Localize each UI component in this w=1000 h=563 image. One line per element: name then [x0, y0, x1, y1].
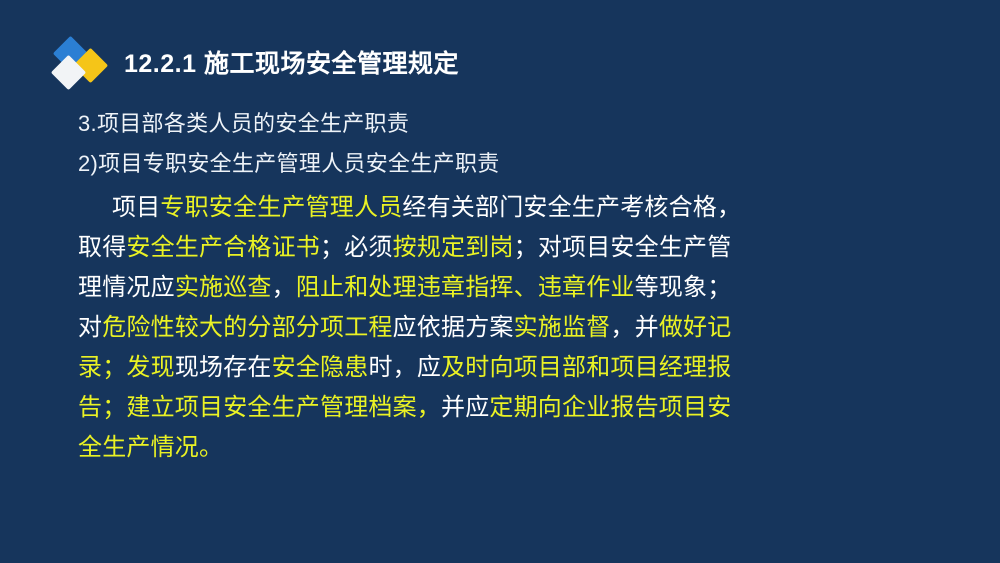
highlighted-text-run: 阻止和处理违章指挥、违章作业: [296, 274, 635, 301]
paragraph-line: 项目专职安全生产管理人员经有关部门安全生产考核合格，: [78, 188, 938, 228]
plain-text-run: 并应: [441, 394, 489, 421]
plain-text-run: ；对项目安全生产管: [514, 234, 732, 261]
highlighted-text-run: 实施巡查: [175, 274, 272, 301]
lead-line-1: 3.项目部各类人员的安全生产职责: [78, 104, 938, 144]
highlighted-text-run: 安全生产合格证书: [126, 234, 320, 261]
slide-canvas: 12.2.1 施工现场安全管理规定 3.项目部各类人员的安全生产职责 2)项目专…: [0, 0, 1000, 563]
plain-text-run: ；必须: [320, 234, 393, 261]
highlighted-text-run: 及时向项目部和项目经理报: [441, 354, 731, 381]
highlighted-text-run: 录；发现: [78, 354, 175, 381]
page-title: 12.2.1 施工现场安全管理规定: [124, 52, 459, 77]
plain-text-run: 取得: [78, 234, 126, 261]
paragraph-line: 全生产情况。: [78, 428, 938, 468]
three-diamond-logo-icon: [52, 38, 110, 90]
plain-text-run: 等现象；: [635, 274, 732, 301]
paragraph-line: 对危险性较大的分部分项工程应依据方案实施监督，并做好记: [78, 308, 938, 348]
highlighted-text-run: 告；建立项目安全生产管理档案，: [78, 394, 441, 421]
slide-body: 3.项目部各类人员的安全生产职责 2)项目专职安全生产管理人员安全生产职责 项目…: [78, 104, 938, 468]
highlighted-text-run: 定期向企业报告项目安: [489, 394, 731, 421]
plain-text-run: 理情况应: [78, 274, 175, 301]
highlighted-text-run: 按规定到岗: [393, 234, 514, 261]
highlighted-text-run: 做好记: [659, 314, 732, 341]
highlighted-text-run: 实施监督: [514, 314, 611, 341]
highlighted-text-run: 全生产情况。: [78, 434, 223, 461]
slide-header: 12.2.1 施工现场安全管理规定: [52, 36, 459, 92]
plain-text-run: 对: [78, 314, 102, 341]
paragraph-line: 理情况应实施巡查，阻止和处理违章指挥、违章作业等现象；: [78, 268, 938, 308]
plain-text-run: 现场存在: [175, 354, 272, 381]
plain-text-run: ，并: [610, 314, 658, 341]
highlighted-text-run: 安全隐患: [272, 354, 369, 381]
paragraph-line: 取得安全生产合格证书；必须按规定到岗；对项目安全生产管: [78, 228, 938, 268]
lead-line-2: 2)项目专职安全生产管理人员安全生产职责: [78, 144, 938, 184]
paragraph-line: 告；建立项目安全生产管理档案，并应定期向企业报告项目安: [78, 388, 938, 428]
plain-text-run: 应依据方案: [393, 314, 514, 341]
plain-text-run: 项目: [112, 194, 160, 221]
plain-text-run: 经有关部门安全生产考核合格，: [402, 194, 741, 221]
paragraph-line: 录；发现现场存在安全隐患时，应及时向项目部和项目经理报: [78, 348, 938, 388]
plain-text-run: 时，应: [368, 354, 441, 381]
body-paragraph: 项目专职安全生产管理人员经有关部门安全生产考核合格，取得安全生产合格证书；必须按…: [78, 188, 938, 468]
plain-text-run: ，: [272, 274, 296, 301]
highlighted-text-run: 专职安全生产管理人员: [160, 194, 402, 221]
highlighted-text-run: 危险性较大的分部分项工程: [102, 314, 392, 341]
